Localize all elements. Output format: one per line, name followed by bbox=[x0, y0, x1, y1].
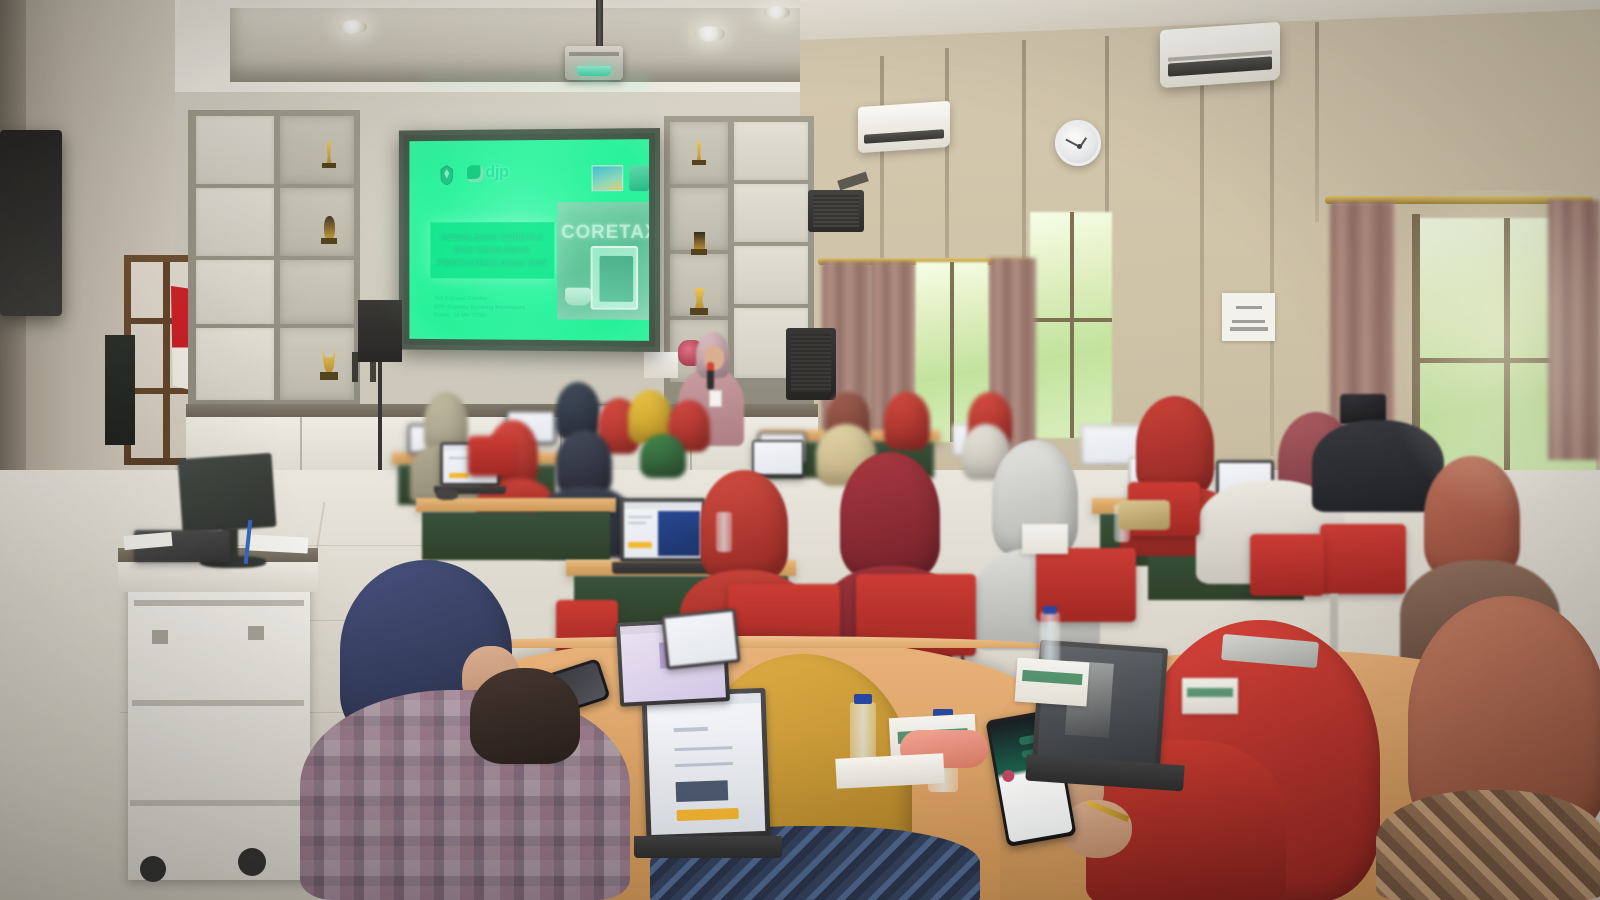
participant-dark-hair-front bbox=[470, 668, 580, 764]
cabinet-left-door-4 bbox=[196, 328, 274, 400]
window-b-mullion-v bbox=[1504, 218, 1510, 508]
cart-wheel-right bbox=[238, 848, 266, 876]
slide-footer: pajak.go.id bbox=[504, 336, 582, 341]
sign-text-line-2 bbox=[1232, 320, 1265, 323]
wall-mounted-box bbox=[0, 130, 62, 316]
mascot-badge-icon bbox=[629, 165, 649, 191]
papers-front-table bbox=[835, 753, 944, 789]
water-bottle-3-cap bbox=[1043, 606, 1057, 614]
door-mullion-v bbox=[163, 262, 170, 458]
cabinet-left-shelf-3 bbox=[280, 260, 354, 324]
laptop-front-1-field-2 bbox=[675, 762, 733, 767]
mic-stand-pole bbox=[378, 362, 382, 478]
participant-batik-far-right-body bbox=[1376, 790, 1600, 900]
desk-mid-left bbox=[416, 498, 616, 512]
cabinet-left-shelf-2 bbox=[280, 188, 354, 256]
pa-speaker-floor bbox=[786, 328, 836, 400]
downlight-3 bbox=[695, 26, 725, 42]
pa-speaker-wall bbox=[808, 190, 864, 232]
water-bottle-1-cap bbox=[854, 694, 872, 704]
cabinet-left-door-1 bbox=[196, 116, 274, 184]
desk-mid-left-panel bbox=[422, 512, 610, 560]
laptop-mid-3-screen bbox=[624, 502, 702, 558]
slide-artwork-cup bbox=[565, 288, 591, 306]
cart-latch-2 bbox=[248, 626, 264, 640]
participant-navy-2-plaid-shirt bbox=[300, 690, 630, 900]
presentation-slide: djp SOSIALISASI CORETAX DAN KEWAJIBAN PE… bbox=[409, 139, 649, 341]
sign-text-line-3 bbox=[1230, 327, 1268, 331]
projector-mount-pole bbox=[596, 0, 603, 48]
equipment-cart bbox=[128, 580, 310, 880]
snack-box-4 bbox=[1022, 524, 1068, 554]
slide-artwork: CORETAX bbox=[557, 202, 649, 320]
cabinet-right-door-1 bbox=[734, 122, 808, 180]
laptop-front-1-submit-button bbox=[677, 808, 739, 821]
laptop-front-5 bbox=[661, 608, 740, 669]
djp-logo-icon bbox=[467, 165, 483, 182]
laptop-mid-3-line-1 bbox=[628, 516, 652, 518]
trophy-1-base bbox=[322, 163, 336, 168]
chair-4 bbox=[1320, 524, 1406, 594]
wall-panel-seam-4 bbox=[1270, 26, 1274, 456]
speaker-small-left bbox=[358, 300, 402, 362]
microphone bbox=[707, 362, 714, 390]
laptop-mid-3-browser-bar bbox=[624, 502, 702, 509]
cart-rail-top bbox=[134, 600, 304, 606]
slide-title-line-3: PERPAJAKAN DANA BOP bbox=[430, 257, 554, 270]
cart-rail-mid bbox=[132, 700, 304, 706]
laptop-front-1-base bbox=[634, 836, 782, 858]
dark-cabinet-left bbox=[105, 335, 135, 445]
slide-title-line-2: DAN KEWAJIBAN bbox=[430, 244, 554, 257]
cart-latch-1 bbox=[152, 630, 168, 644]
participant-red-hijab-3 bbox=[1136, 396, 1214, 496]
window-a-mullion-v bbox=[1070, 212, 1074, 438]
operator-papers-2 bbox=[248, 534, 309, 553]
slide-subtitle-line-3: Kamis, 28 Mei 2025 bbox=[434, 312, 550, 321]
projector-vent bbox=[569, 52, 619, 56]
slide-artwork-device bbox=[591, 246, 638, 310]
curtain-b-right bbox=[1548, 200, 1600, 460]
handbag-right bbox=[1118, 500, 1170, 530]
garuda-emblem-icon bbox=[438, 164, 455, 186]
slide-artwork-wordmark: CORETAX bbox=[561, 222, 649, 244]
speaker-floor-grille bbox=[791, 334, 831, 392]
trophy-2 bbox=[324, 216, 335, 240]
slide-title-line-1: SOSIALISASI CORETAX bbox=[430, 222, 554, 244]
laptop-front-1-field-1 bbox=[674, 746, 732, 751]
participant-red-hijab-8 bbox=[700, 470, 788, 580]
chair-7 bbox=[468, 436, 514, 476]
laptop-front-1-heading bbox=[674, 727, 708, 732]
air-conditioner-right bbox=[1160, 22, 1280, 88]
window-a-mullion-h bbox=[1030, 318, 1112, 322]
snack-box-2 bbox=[1015, 658, 1090, 707]
laptop-front-1-screen bbox=[647, 693, 766, 835]
window-a2-mullion-v bbox=[950, 262, 954, 442]
trophy-3-base bbox=[320, 372, 338, 380]
snack-box-2-band bbox=[1022, 670, 1083, 685]
speaker-grille bbox=[813, 195, 859, 227]
cabinet-left-door-3 bbox=[196, 260, 274, 324]
laptop-mid-3-line-2 bbox=[628, 522, 646, 524]
sign-text-line-1 bbox=[1236, 306, 1262, 309]
presenter-id-lanyard bbox=[709, 390, 722, 407]
slide-artwork-device-screen bbox=[600, 256, 634, 302]
cart-rail-low bbox=[130, 800, 304, 806]
trophy-2-base bbox=[321, 238, 337, 244]
trophy-6-base bbox=[690, 308, 708, 315]
laptop-front-1-captcha bbox=[676, 780, 729, 802]
paper-stack-counter bbox=[644, 352, 678, 378]
snack-box-3 bbox=[1182, 678, 1238, 714]
cabinet-left-shelf-1 bbox=[280, 116, 354, 184]
downlight-2 bbox=[339, 20, 367, 34]
water-bottle-4 bbox=[716, 512, 732, 552]
ceiling-projector bbox=[565, 46, 623, 80]
cabinet-left-shelf-4 bbox=[280, 328, 354, 400]
air-conditioner-left bbox=[858, 101, 950, 153]
wall-notice-sign bbox=[1222, 293, 1275, 341]
laptop-mid-3-base bbox=[612, 562, 714, 574]
downlight-4 bbox=[764, 6, 790, 19]
projector-lens bbox=[577, 66, 611, 76]
desktop-monitor bbox=[178, 453, 277, 533]
participant-peci-man-body bbox=[1312, 420, 1444, 512]
laptop-mid-2 bbox=[752, 440, 804, 478]
laptop-front-5-screen bbox=[665, 612, 738, 667]
program-badge-icon bbox=[592, 165, 624, 191]
trophy-5-base bbox=[691, 249, 707, 255]
cart-wheel-left bbox=[140, 856, 166, 882]
wall-panel-seam-3 bbox=[1200, 30, 1204, 460]
clock-center-pin bbox=[1077, 144, 1082, 149]
cabinet-right-door-2 bbox=[734, 184, 808, 242]
ac-vent-left bbox=[864, 129, 944, 144]
laptop-mid-1-button bbox=[449, 473, 469, 478]
wall-clock bbox=[1055, 120, 1101, 166]
participant-red-hijab-6 bbox=[884, 392, 930, 450]
cabinet-right-door-3 bbox=[734, 246, 808, 304]
laptop-mid-3-button bbox=[628, 542, 652, 548]
trophy-4-base bbox=[692, 160, 706, 165]
slide-title-box: SOSIALISASI CORETAX DAN KEWAJIBAN PERPAJ… bbox=[430, 222, 554, 278]
cabinet-left-door-2 bbox=[196, 188, 274, 256]
projection-screen: djp SOSIALISASI CORETAX DAN KEWAJIBAN PE… bbox=[399, 128, 660, 352]
trophy-5 bbox=[694, 232, 705, 250]
slide-subtitle-line-1: Tim Edukasi Coretax bbox=[434, 295, 550, 304]
participant-green-hijab bbox=[640, 434, 686, 478]
laptop-mid-3 bbox=[620, 498, 706, 562]
wall-panel-seam-5 bbox=[1315, 22, 1319, 222]
djp-brand-text: djp bbox=[485, 162, 508, 182]
mouse-mid-desk bbox=[436, 488, 458, 500]
participant-maroon-hijab-1 bbox=[840, 452, 940, 578]
snack-box-3-band bbox=[1187, 688, 1233, 697]
laptop-front-1 bbox=[641, 688, 770, 842]
water-bottle-3 bbox=[1040, 612, 1060, 664]
laptop-mid-3-blue-panel bbox=[658, 511, 700, 556]
slide-subtitle: Tim Edukasi Coretax KPP Pratama Bandung … bbox=[434, 295, 550, 321]
meeting-room-photo: djp SOSIALISASI CORETAX DAN KEWAJIBAN PE… bbox=[0, 0, 1600, 900]
laptop-mid-2-screen bbox=[754, 442, 802, 474]
chair-5 bbox=[1250, 534, 1324, 596]
